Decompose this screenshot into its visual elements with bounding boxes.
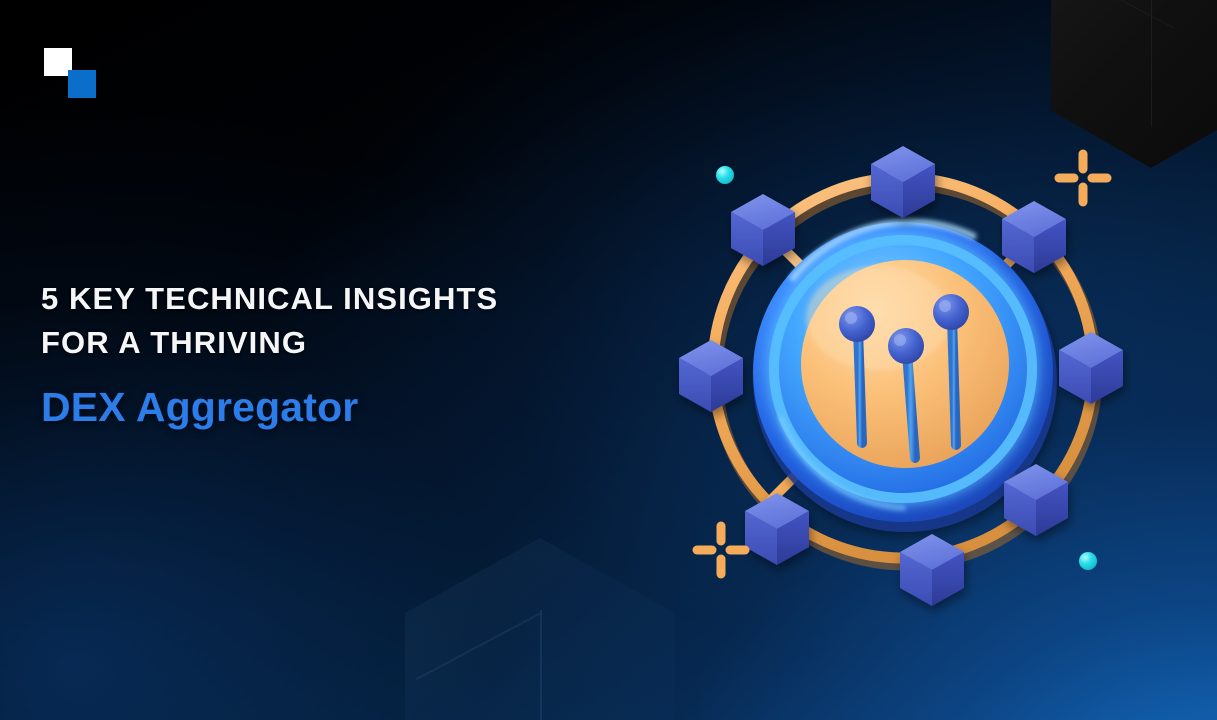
hexagon-watermark-bottom — [405, 538, 675, 720]
hero-illustration — [653, 88, 1173, 648]
orbit-cube-s — [900, 534, 964, 606]
orbit-cube-w — [679, 340, 743, 412]
brand-logo[interactable] — [44, 48, 96, 98]
orbit-cube-n — [871, 146, 935, 218]
sparkle-icon-1 — [1059, 154, 1107, 202]
cyan-dot-icon-1 — [716, 166, 734, 184]
cyan-dot-icon-2 — [1079, 552, 1097, 570]
orbit-cube-sw — [745, 493, 809, 565]
logo-square-blue-icon — [68, 70, 96, 98]
promo-banner: 5 KEY TECHNICAL INSIGHTS FOR A THRIVING … — [0, 0, 1217, 720]
headline-line-2: FOR A THRIVING — [41, 321, 601, 365]
headline-block: 5 KEY TECHNICAL INSIGHTS FOR A THRIVING … — [41, 277, 601, 433]
sparkle-icon-2 — [697, 526, 745, 574]
headline-subtitle: DEX Aggregator — [41, 381, 601, 433]
orbit-cube-e — [1059, 332, 1123, 404]
headline-line-1: 5 KEY TECHNICAL INSIGHTS — [41, 277, 601, 321]
